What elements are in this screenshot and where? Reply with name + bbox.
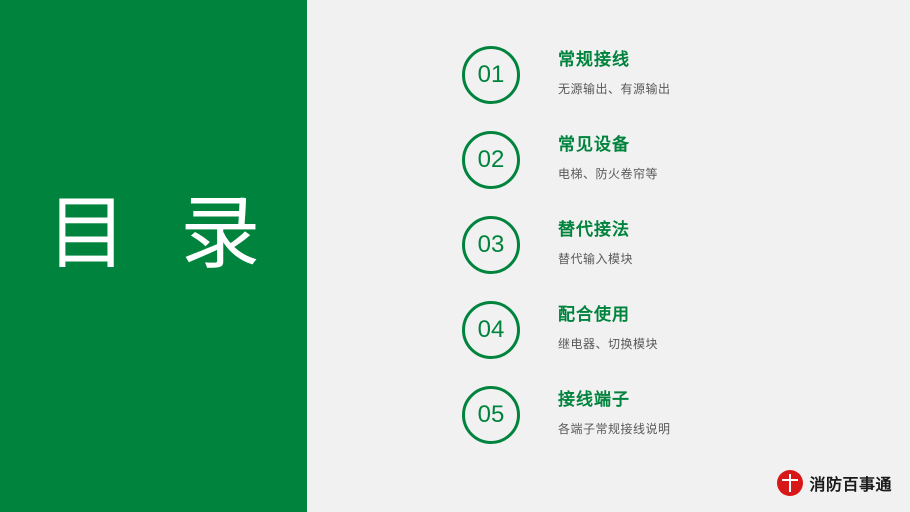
toc-number-badge: 04 [462, 301, 520, 359]
list-item[interactable]: 05 接线端子 各端子常规接线说明 [462, 386, 882, 471]
list-item[interactable]: 01 常规接线 无源输出、有源输出 [462, 46, 882, 131]
toc-heading: 配合使用 [558, 303, 658, 327]
list-item[interactable]: 04 配合使用 继电器、切换模块 [462, 301, 882, 386]
toc-subtitle: 替代输入模块 [558, 250, 633, 268]
brand-logo: 消防百事通 [777, 470, 892, 496]
brand-name: 消防百事通 [809, 471, 892, 495]
list-item[interactable]: 03 替代接法 替代输入模块 [462, 216, 882, 301]
toc-text-group: 替代接法 替代输入模块 [558, 218, 633, 268]
content-panel: 01 常规接线 无源输出、有源输出 02 常见设备 电梯、防火卷帘等 03 替代… [307, 0, 910, 512]
table-of-contents: 01 常规接线 无源输出、有源输出 02 常见设备 电梯、防火卷帘等 03 替代… [462, 46, 882, 471]
list-item[interactable]: 02 常见设备 电梯、防火卷帘等 [462, 131, 882, 216]
toc-text-group: 配合使用 继电器、切换模块 [558, 303, 658, 353]
toc-subtitle: 无源输出、有源输出 [558, 80, 671, 98]
fire-safety-icon [777, 470, 803, 496]
left-green-panel: 目 录 [0, 0, 307, 512]
toc-number-badge: 01 [462, 46, 520, 104]
toc-heading: 替代接法 [558, 218, 633, 242]
toc-heading: 常规接线 [558, 48, 671, 72]
toc-number-badge: 05 [462, 386, 520, 444]
toc-text-group: 接线端子 各端子常规接线说明 [558, 388, 671, 438]
toc-heading: 接线端子 [558, 388, 671, 412]
toc-text-group: 常规接线 无源输出、有源输出 [558, 48, 671, 98]
toc-number-badge: 02 [462, 131, 520, 189]
toc-text-group: 常见设备 电梯、防火卷帘等 [558, 133, 658, 183]
toc-subtitle: 电梯、防火卷帘等 [558, 165, 658, 183]
slide: 目 录 01 常规接线 无源输出、有源输出 02 常见设备 电梯、防火卷帘等 0… [0, 0, 910, 512]
toc-subtitle: 各端子常规接线说明 [558, 420, 671, 438]
toc-subtitle: 继电器、切换模块 [558, 335, 658, 353]
toc-number-badge: 03 [462, 216, 520, 274]
toc-heading: 常见设备 [558, 133, 658, 157]
page-title: 目 录 [0, 186, 307, 282]
